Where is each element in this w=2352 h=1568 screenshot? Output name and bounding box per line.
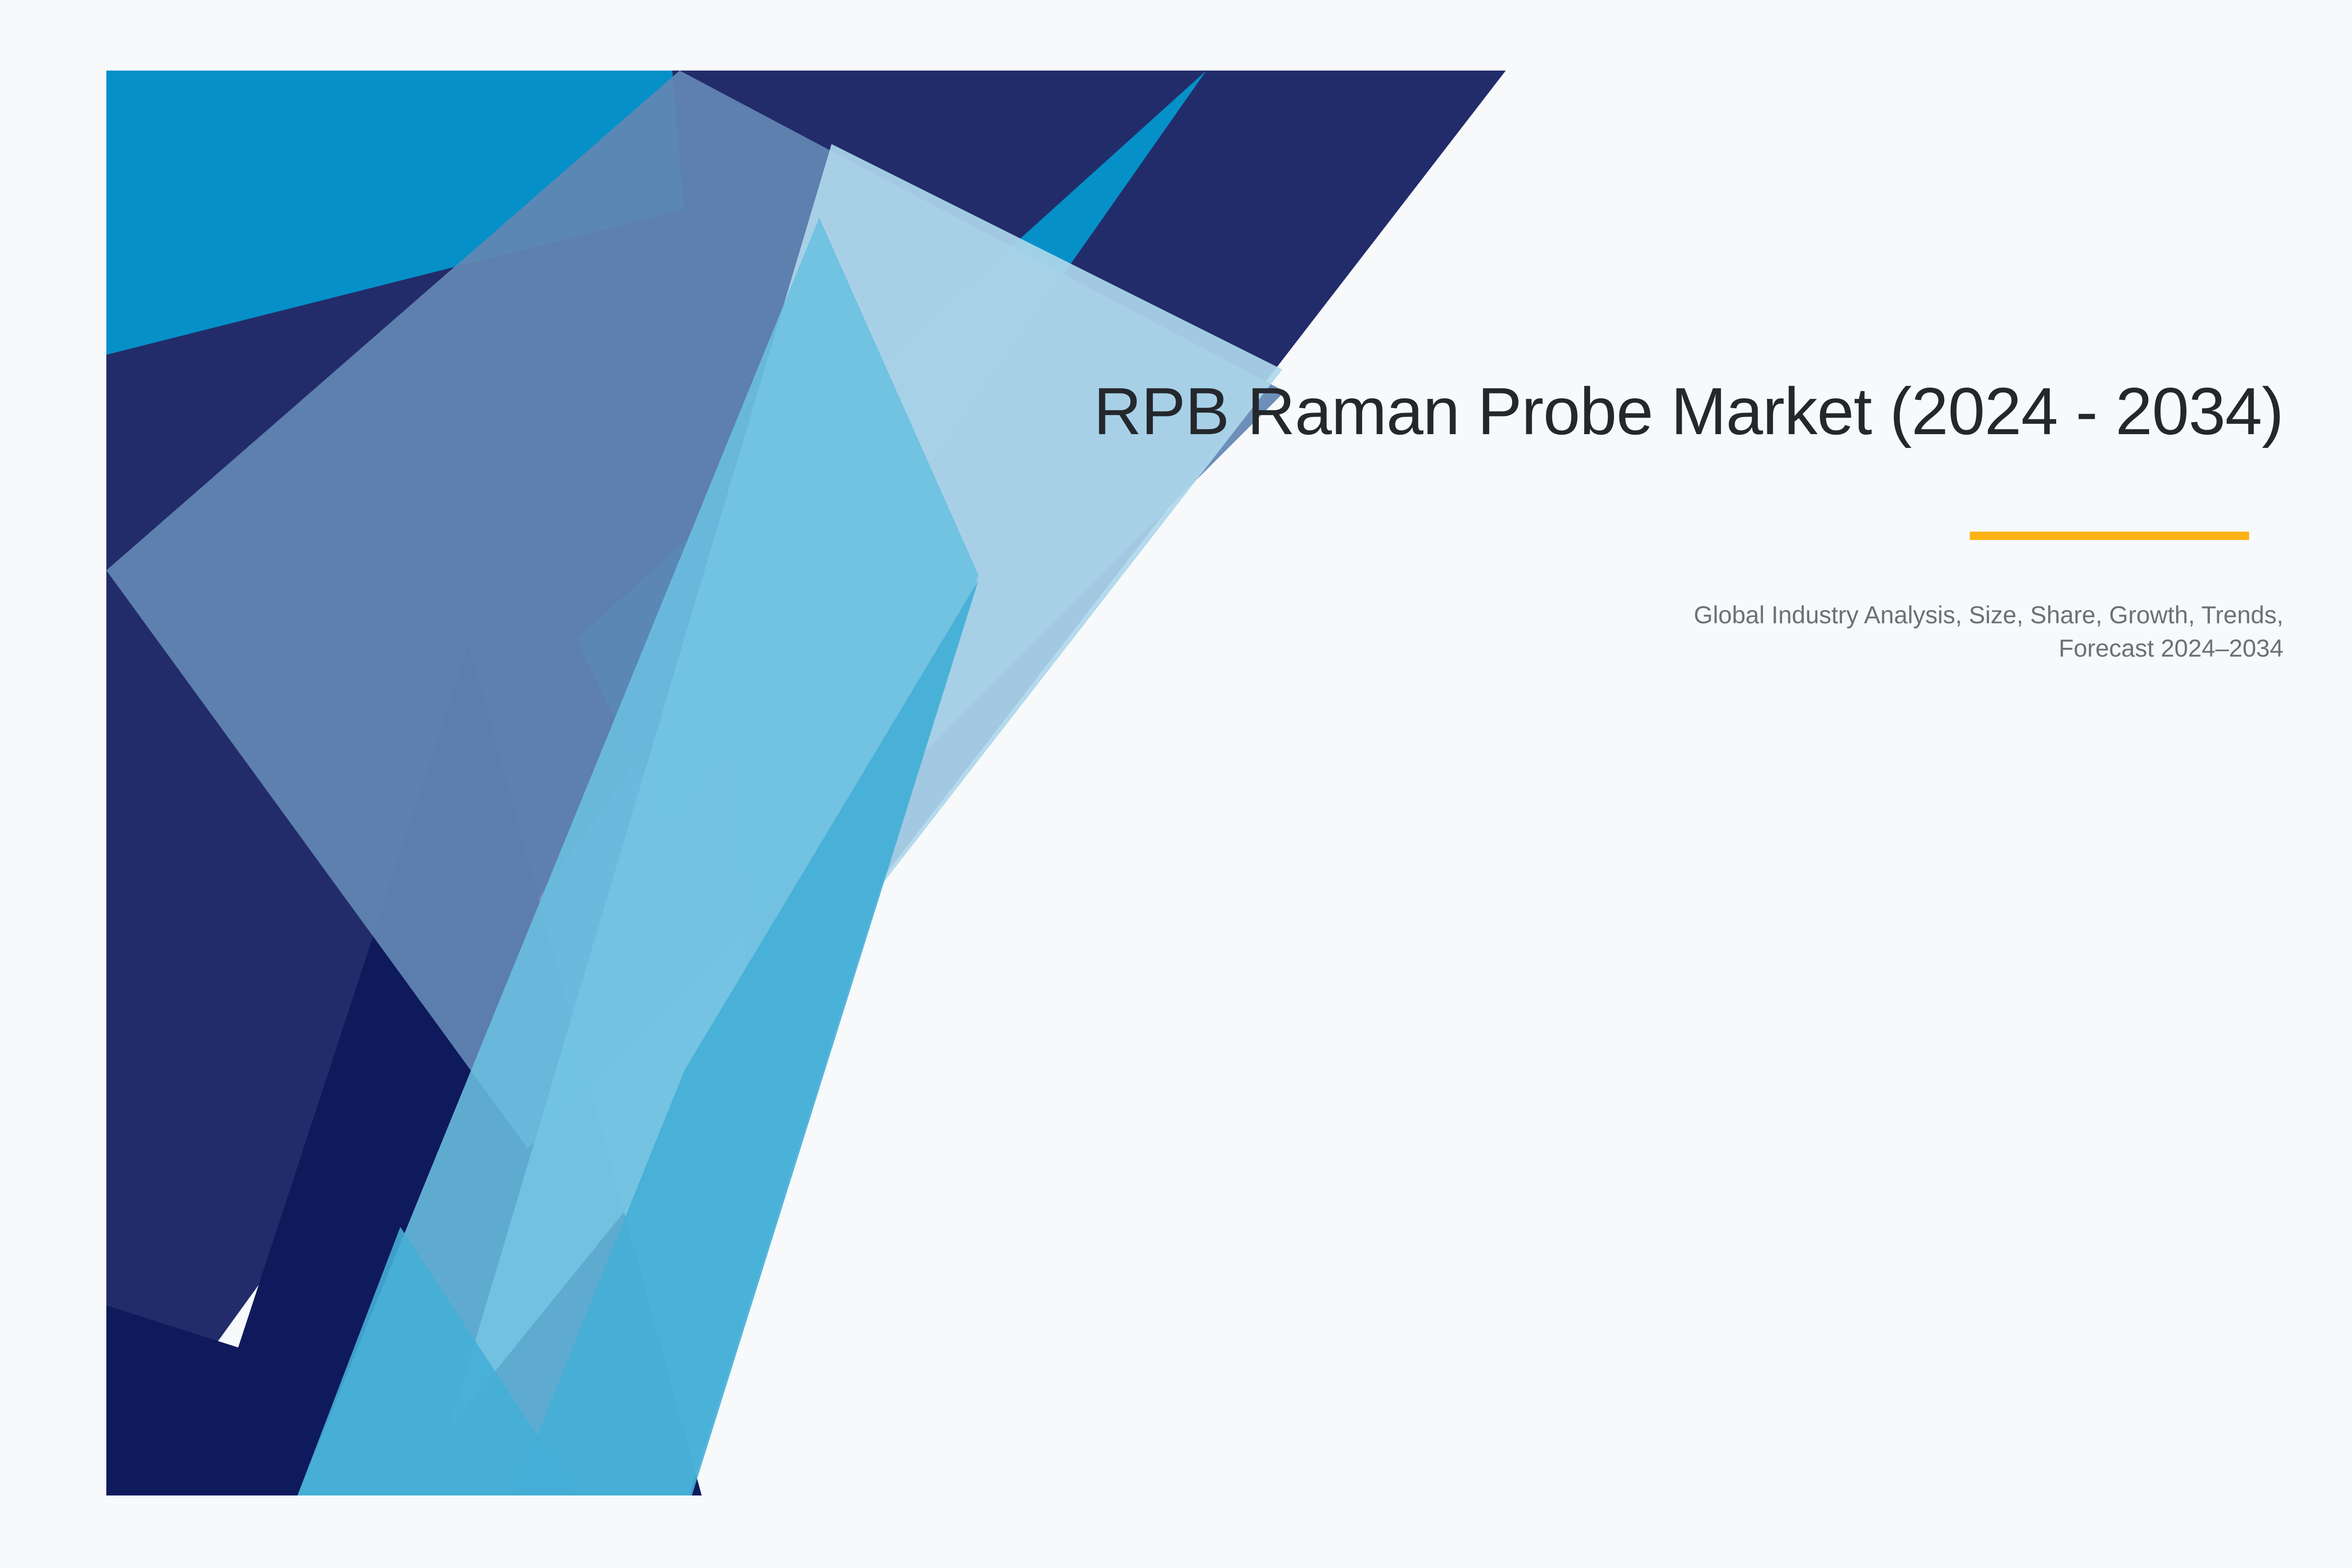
title-accent-bar: [1970, 532, 2249, 540]
cover-artwork: [106, 71, 1506, 1495]
title-wrap: RPB Raman Probe Market (2024 - 2034): [1009, 372, 2283, 450]
page-title: RPB Raman Probe Market (2024 - 2034): [1009, 372, 2283, 450]
report-cover: RPB Raman Probe Market (2024 - 2034) Glo…: [0, 0, 2352, 1568]
page-subtitle: Global Industry Analysis, Size, Share, G…: [1676, 598, 2283, 665]
abstract-geometric-polygon-collage: [106, 71, 1506, 1495]
cover-text-block: RPB Raman Probe Market (2024 - 2034) Glo…: [1009, 372, 2283, 665]
